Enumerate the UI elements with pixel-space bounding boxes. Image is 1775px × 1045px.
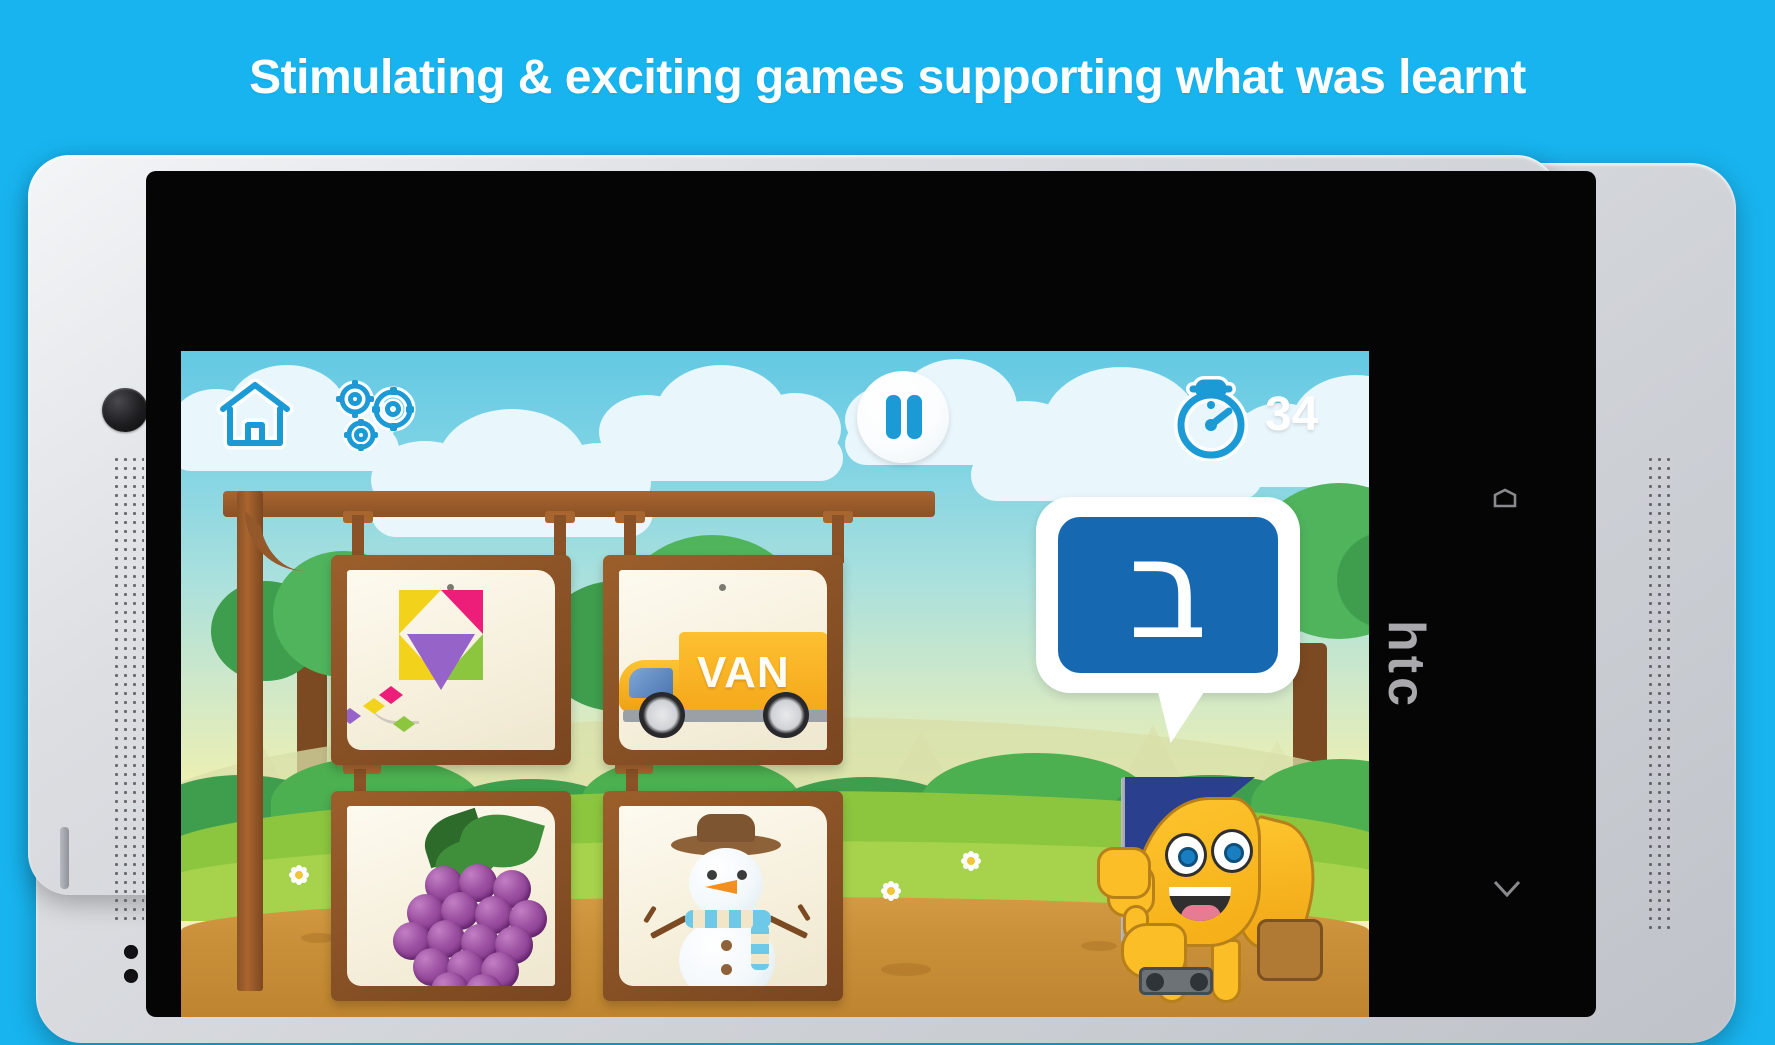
page-title: Stimulating & exciting games supporting … — [0, 50, 1775, 105]
van-illustration: VAN — [619, 620, 827, 740]
mascot-eye — [1211, 829, 1253, 873]
card-snowman[interactable] — [603, 791, 843, 1001]
card-paper — [347, 806, 555, 986]
card-paper — [619, 806, 827, 986]
prompt-speech-bubble: ב — [1036, 497, 1300, 693]
wheel — [639, 692, 685, 738]
kite-illustration — [397, 590, 517, 740]
binoculars — [1139, 967, 1213, 995]
nail — [719, 584, 726, 591]
stopwatch-icon — [1171, 373, 1257, 461]
pause-button[interactable] — [857, 371, 949, 463]
speaker-grille-right — [1646, 455, 1672, 935]
prompt-letter: ב — [1058, 517, 1278, 673]
mascot-leg — [1211, 939, 1241, 1003]
sign-rig: VAN — [223, 491, 943, 1011]
phone-device: htc — [28, 155, 1748, 1045]
mascot-eye — [1165, 833, 1207, 877]
van-label: VAN — [697, 648, 790, 698]
mascot-character: א — [1061, 771, 1321, 1017]
speaker-grille-left — [112, 455, 144, 925]
gear-icon[interactable] — [331, 377, 421, 455]
card-van[interactable]: VAN — [603, 555, 843, 765]
flower — [961, 851, 981, 871]
wheel — [763, 692, 809, 738]
back-arrow-icon[interactable] — [1490, 486, 1520, 516]
htc-logo: htc — [1376, 620, 1436, 710]
card-grapes[interactable] — [331, 791, 571, 1001]
card-paper: VAN — [619, 570, 827, 750]
microphone-holes — [124, 945, 138, 993]
card-paper — [347, 570, 555, 750]
mascot-fist — [1097, 847, 1151, 899]
grapes-illustration — [365, 814, 555, 984]
sign-post — [237, 491, 263, 991]
volume-button[interactable] — [60, 827, 69, 889]
game-screen: VAN — [181, 351, 1369, 1017]
backpack — [1257, 919, 1323, 981]
prompt-panel: ב — [1058, 517, 1278, 673]
chevron-down-icon[interactable] — [1490, 871, 1524, 905]
home-icon[interactable] — [215, 375, 295, 451]
speech-bubble-tail — [1149, 681, 1212, 743]
front-camera — [102, 388, 148, 432]
card-kite[interactable] — [331, 555, 571, 765]
snowman-illustration — [655, 812, 805, 986]
timer-value: 34 — [1265, 387, 1318, 442]
timer: 34 — [1171, 373, 1361, 463]
